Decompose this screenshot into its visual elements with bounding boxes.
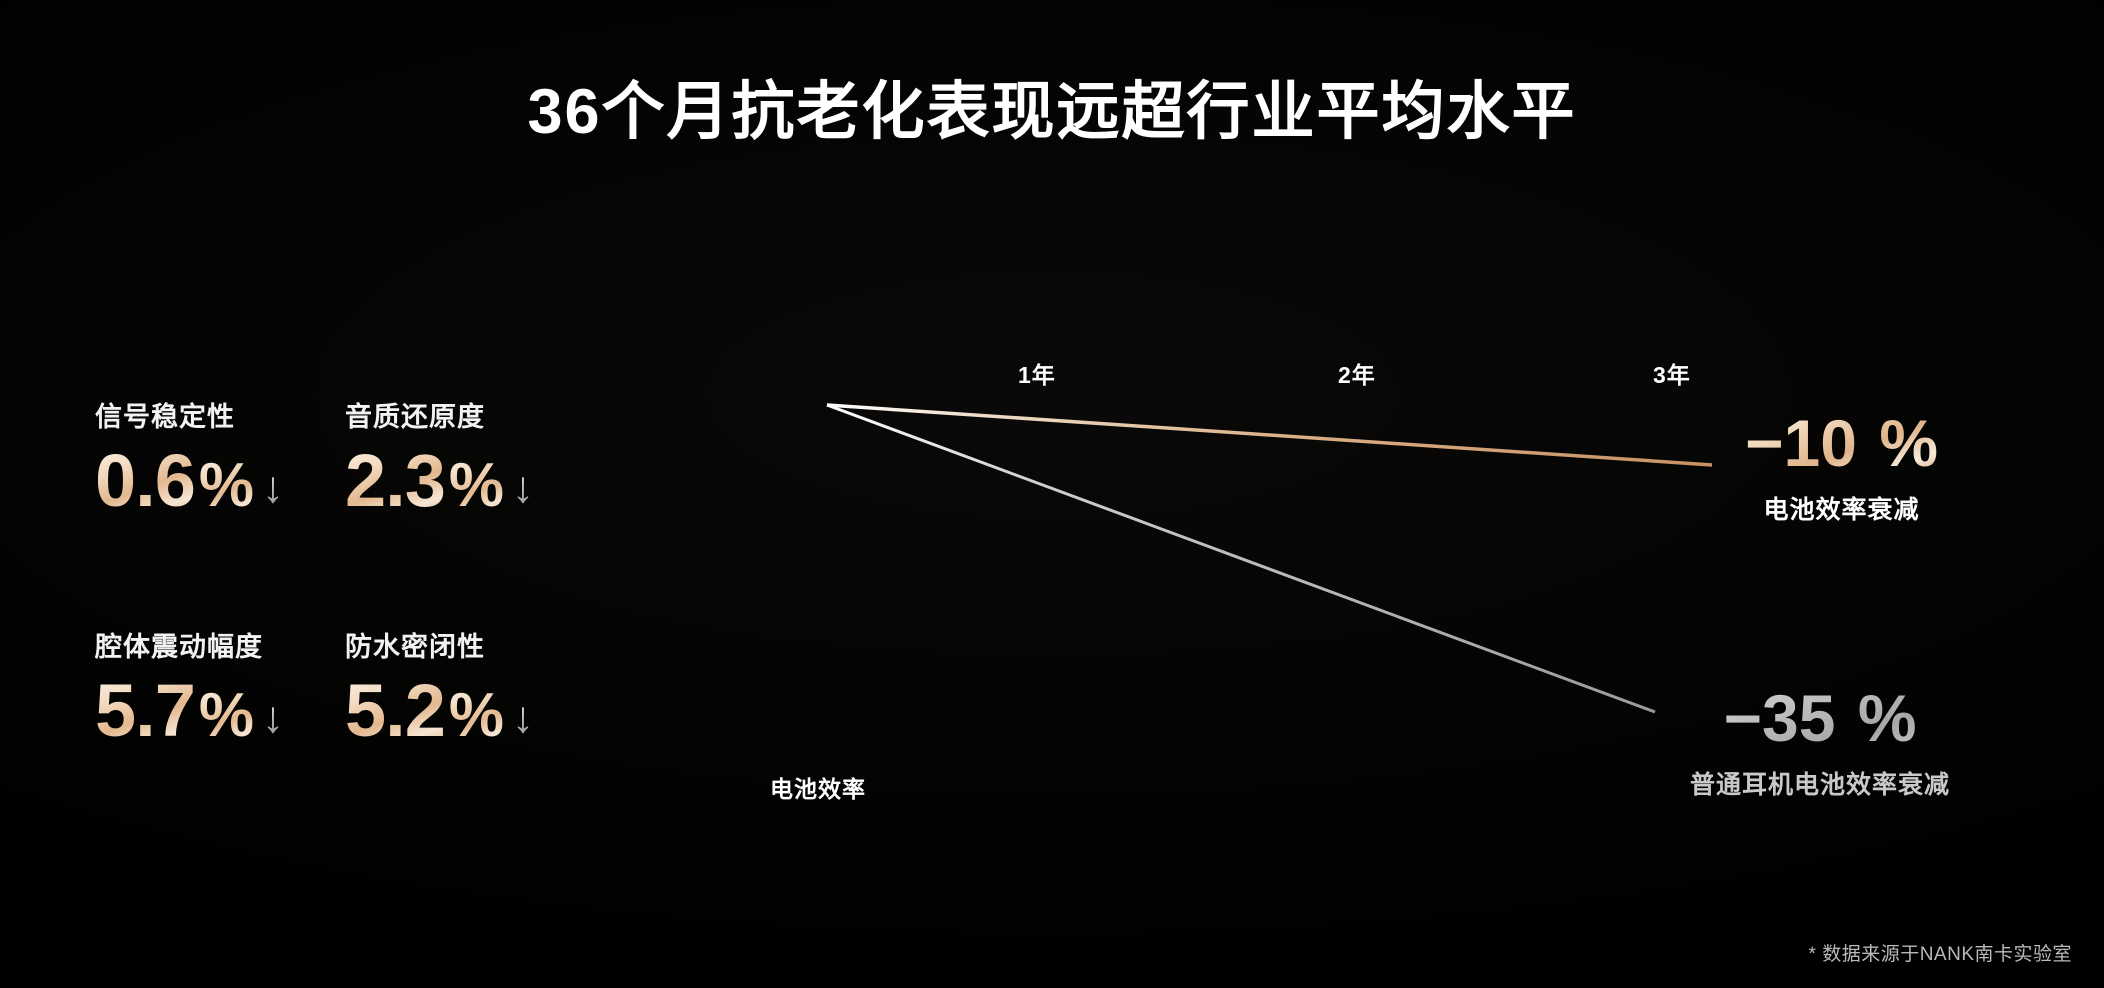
callout-value: −10 %: [1745, 410, 1938, 476]
stat-value: 5.2 % ↓: [345, 674, 595, 748]
callout-ordinary-decay: −35 % 普通耳机电池效率衰减: [1690, 685, 1950, 801]
stat-card-audio-fidelity: 音质还原度 2.3 % ↓: [345, 395, 595, 625]
stat-value: 5.7 % ↓: [95, 674, 345, 748]
footnote-source: * 数据来源于NANK南卡实验室: [1809, 939, 2072, 966]
arrow-down-icon: ↓: [262, 466, 284, 510]
stat-unit: %: [199, 685, 254, 747]
callout-unit: %: [1858, 681, 1917, 755]
stat-number: 5.7: [95, 674, 195, 748]
series-line-nank: [827, 405, 1712, 465]
stat-label: 腔体震动幅度: [95, 625, 345, 664]
stat-number: 2.3: [345, 444, 445, 518]
page-title: 36个月抗老化表现远超行业平均水平: [0, 78, 2104, 147]
x-axis-tick-year-2: 2年: [1338, 356, 1376, 390]
stat-value: 2.3 % ↓: [345, 444, 595, 518]
stat-card-waterproof-seal: 防水密闭性 5.2 % ↓: [345, 625, 595, 855]
callout-caption: 普通耳机电池效率衰减: [1690, 765, 1950, 801]
y-axis-label: 电池效率: [770, 770, 866, 804]
arrow-down-icon: ↓: [262, 696, 284, 740]
arrow-down-icon: ↓: [512, 696, 534, 740]
callout-unit: %: [1879, 406, 1938, 480]
stat-value: 0.6 % ↓: [95, 444, 345, 518]
x-axis-tick-year-3: 3年: [1653, 356, 1691, 390]
callout-number: −10: [1745, 406, 1857, 480]
chart-canvas: [760, 330, 1760, 800]
callout-nank-decay: −10 % 电池效率衰减: [1745, 410, 1938, 526]
callout-number: −35: [1724, 681, 1836, 755]
stat-label: 信号稳定性: [95, 395, 345, 434]
arrow-down-icon: ↓: [512, 466, 534, 510]
slide-root: 36个月抗老化表现远超行业平均水平 信号稳定性 0.6 % ↓ 音质还原度 2.…: [0, 0, 2104, 988]
stat-unit: %: [199, 455, 254, 517]
stat-grid: 信号稳定性 0.6 % ↓ 音质还原度 2.3 % ↓ 腔体震动幅度 5.7 %…: [95, 395, 595, 855]
x-axis-tick-year-1: 1年: [1018, 356, 1056, 390]
decay-line-chart: 1年 2年 3年: [760, 330, 1760, 800]
stat-number: 5.2: [345, 674, 445, 748]
callout-value: −35 %: [1690, 685, 1950, 751]
stat-card-cavity-vibration: 腔体震动幅度 5.7 % ↓: [95, 625, 345, 855]
stat-number: 0.6: [95, 444, 195, 518]
stat-card-signal-stability: 信号稳定性 0.6 % ↓: [95, 395, 345, 625]
stat-label: 防水密闭性: [345, 625, 595, 664]
stat-unit: %: [449, 685, 504, 747]
callout-caption: 电池效率衰减: [1745, 490, 1938, 526]
stat-unit: %: [449, 455, 504, 517]
stat-label: 音质还原度: [345, 395, 595, 434]
